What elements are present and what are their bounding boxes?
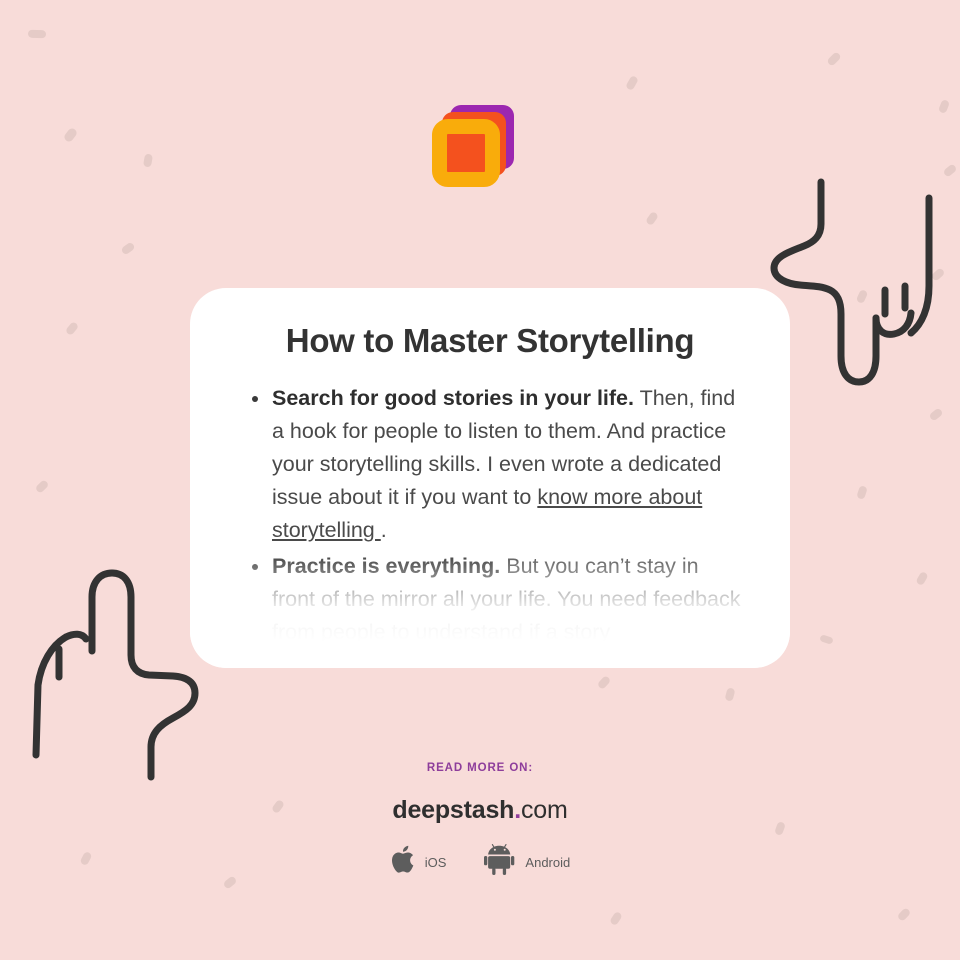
store-badges: iOS Android	[0, 844, 960, 880]
brand-tld: com	[521, 796, 568, 824]
confetti-dash	[938, 99, 950, 114]
android-label: Android	[525, 855, 570, 870]
confetti-dash	[120, 241, 135, 255]
android-badge[interactable]: Android	[484, 844, 570, 880]
confetti-dash	[897, 907, 912, 922]
confetti-dash	[915, 571, 928, 586]
confetti-dash	[724, 687, 735, 702]
confetti-dash	[597, 675, 612, 690]
hand-pointing-icon	[18, 555, 218, 790]
list-item: Practice is everything. But you can’t st…	[234, 550, 746, 649]
brand-dot: .	[514, 796, 521, 824]
list-item-lead: Search for good stories in your life.	[272, 386, 634, 410]
card-content: How to Master Storytelling Search for go…	[190, 288, 790, 649]
confetti-dash	[819, 634, 834, 645]
list-item-tail: .	[381, 518, 387, 542]
confetti-dash	[28, 30, 46, 39]
list-item-lead: Practice is everything.	[272, 554, 500, 578]
confetti-dash	[826, 51, 842, 67]
confetti-dash	[65, 321, 79, 336]
confetti-dash	[609, 911, 623, 926]
ios-badge[interactable]: iOS	[390, 844, 447, 880]
confetti-dash	[928, 407, 943, 421]
apple-icon	[390, 844, 416, 880]
confetti-dash	[63, 127, 79, 144]
android-icon	[484, 844, 516, 880]
brand-name: deepstash	[392, 796, 514, 824]
logo-layer-amber	[432, 119, 500, 187]
page-title: How to Master Storytelling	[234, 322, 746, 360]
confetti-dash	[645, 211, 659, 226]
confetti-dash	[143, 153, 153, 167]
story-card: How to Master Storytelling Search for go…	[190, 288, 790, 668]
confetti-dash	[856, 485, 868, 500]
ios-label: iOS	[425, 855, 447, 870]
deepstash-story-card: How to Master Storytelling Search for go…	[0, 0, 960, 960]
list-item: Search for good stories in your life. Th…	[234, 382, 746, 547]
confetti-dash	[625, 75, 639, 91]
brand-wordmark: deepstash.com	[0, 796, 960, 825]
deepstash-logo	[428, 105, 520, 197]
read-more-label: READ MORE ON:	[0, 762, 960, 774]
idea-list: Search for good stories in your life. Th…	[234, 382, 746, 649]
footer: READ MORE ON: deepstash.com iOS	[0, 762, 960, 880]
confetti-dash	[35, 479, 50, 494]
